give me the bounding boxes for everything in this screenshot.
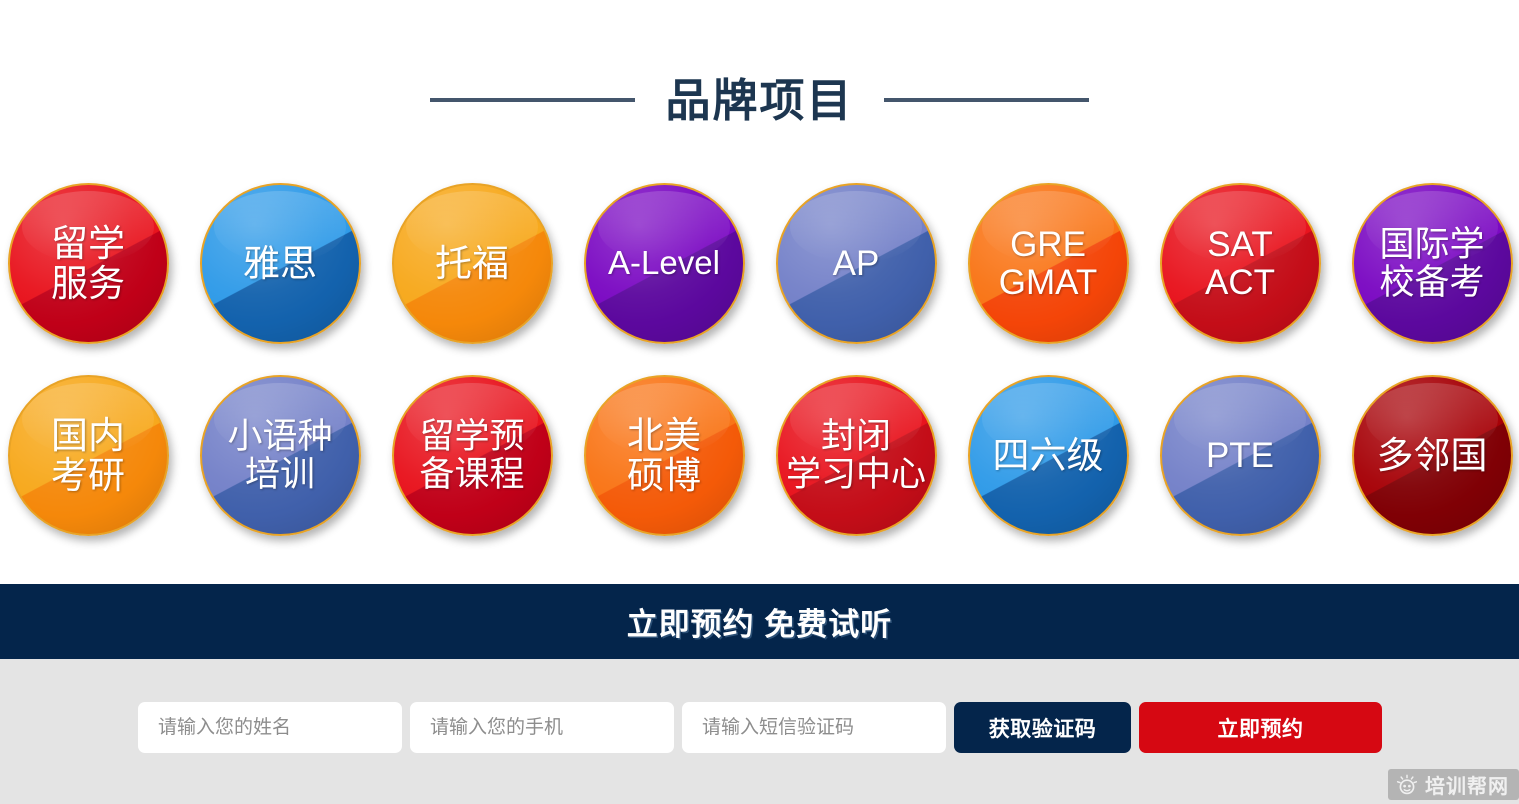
sms-code-input[interactable] [682,702,946,753]
program-circle-label: 北美 硕博 [625,416,703,494]
program-circle-label: 四六级 [991,436,1106,475]
sun-face-icon [1396,774,1418,796]
program-circle-tuofu[interactable]: 托福 [392,183,553,344]
program-circle-duolingguo[interactable]: 多邻国 [1352,375,1513,536]
program-circle-beimei-shuobo[interactable]: 北美 硕博 [584,375,745,536]
cta-banner: 立即预约 免费试听 [0,584,1519,659]
phone-input[interactable] [410,702,674,753]
name-input[interactable] [138,702,402,753]
get-sms-code-button[interactable]: 获取验证码 [954,702,1131,753]
program-circle-gre-gmat[interactable]: GRE GMAT [968,183,1129,344]
program-circle-label: GRE GMAT [997,226,1100,300]
program-circle-label: 国际学 校备考 [1377,226,1486,300]
program-row-1: 留学 服务雅思托福A-LevelAPGRE GMATSAT ACT国际学 校备考 [0,183,1519,345]
program-circle-label: A-Level [606,246,722,281]
site-watermark: 培训帮网 [1388,769,1519,800]
program-circle-label: AP [831,245,882,282]
program-circle-guoji-xuexiao-beikao[interactable]: 国际学 校备考 [1352,183,1513,344]
program-circle-label: PTE [1204,437,1276,474]
brand-programs-page: 品牌项目 留学 服务雅思托福A-LevelAPGRE GMATSAT ACT国际… [0,0,1519,804]
cta-banner-text: 立即预约 免费试听 [627,599,893,644]
program-circle-label: 雅思 [241,244,319,283]
program-circle-label: 封闭 学习中心 [784,418,928,492]
program-circle-fengbi-xuexi-zhongxin[interactable]: 封闭 学习中心 [776,375,937,536]
program-circle-guonei-kaoyan[interactable]: 国内 考研 [8,375,169,536]
page-title-row: 品牌项目 [0,62,1519,138]
program-circle-label: 小语种 培训 [225,418,334,492]
program-row-2: 国内 考研小语种 培训留学预 备课程北美 硕博封闭 学习中心四六级PTE多邻国 [0,375,1519,537]
program-circle-pte[interactable]: PTE [1160,375,1321,536]
program-circle-liuxue-fuwu[interactable]: 留学 服务 [8,183,169,344]
program-circle-a-level[interactable]: A-Level [584,183,745,344]
title-rule-right [884,98,1089,102]
page-title: 品牌项目 [665,78,853,123]
program-circle-liuxue-yubei-kecheng[interactable]: 留学预 备课程 [392,375,553,536]
program-circle-label: 多邻国 [1375,436,1490,475]
program-circle-label: 国内 考研 [49,416,127,494]
program-circle-label: 留学 服务 [49,224,127,302]
program-circle-sat-act[interactable]: SAT ACT [1160,183,1321,344]
watermark-text: 培训帮网 [1425,770,1509,799]
program-circle-label: SAT ACT [1203,226,1277,300]
program-circle-xiaoyuzhong-peixun[interactable]: 小语种 培训 [200,375,361,536]
program-circle-yasi[interactable]: 雅思 [200,183,361,344]
program-circle-label: 托福 [433,244,511,283]
booking-form-area: 获取验证码 立即预约 [0,659,1519,804]
submit-booking-button[interactable]: 立即预约 [1139,702,1382,753]
program-circle-si-liu-ji[interactable]: 四六级 [968,375,1129,536]
program-circle-grid: 留学 服务雅思托福A-LevelAPGRE GMATSAT ACT国际学 校备考… [0,183,1519,563]
program-circle-ap[interactable]: AP [776,183,937,344]
booking-form: 获取验证码 立即预约 [138,702,1382,753]
title-rule-left [430,98,635,102]
program-circle-label: 留学预 备课程 [417,418,526,492]
